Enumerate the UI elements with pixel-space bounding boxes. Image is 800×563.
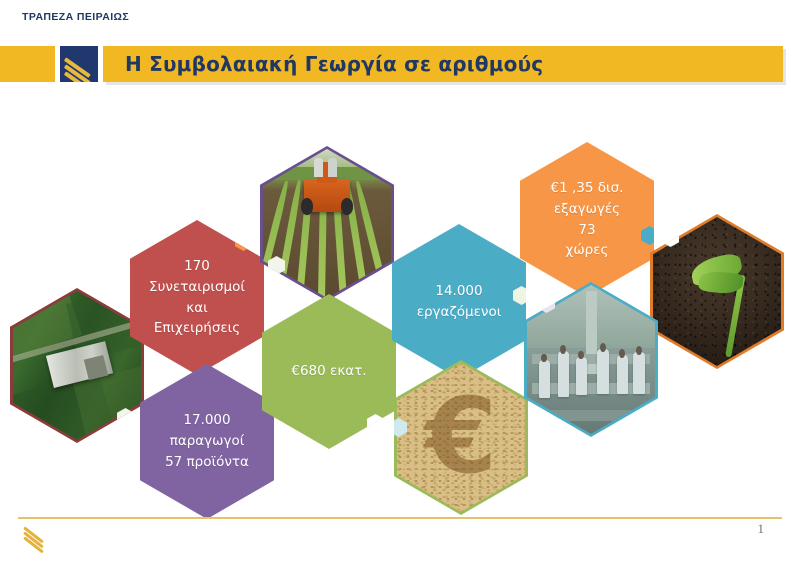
hex-grain-euro: € (394, 360, 528, 515)
stat-value: 73 (551, 220, 624, 241)
page-number: 1 (758, 521, 765, 537)
euro-symbol-overlay: € (425, 383, 497, 487)
stat-line: χώρες (551, 240, 624, 261)
stat-line: εργαζόμενοι (417, 302, 502, 323)
accent-hex-icon (513, 286, 530, 305)
title-bar: Η Συμβολαιακή Γεωργία σε αριθμούς (103, 46, 783, 82)
stat-value: 14.000 (417, 281, 502, 302)
seedling-photo (653, 217, 781, 366)
stat-line: εξαγωγές (551, 199, 624, 220)
hex-aerial-facility (10, 288, 144, 443)
accent-hex-icon (235, 232, 252, 251)
stat-line: Συνεταιρισμοί (149, 277, 245, 298)
tractor-field-photo (263, 149, 391, 298)
slide: ΤΡΑΠΕΖΑ ΠΕΙΡΑΙΩΣ Η Συμβολαιακή Γεωργία σ… (0, 0, 800, 563)
piraeus-bank-logo-icon (60, 46, 98, 82)
hex-processing-plant (524, 282, 658, 437)
aerial-facility-photo (13, 291, 141, 440)
hex-employees-label: 14.000 εργαζόμενοι (409, 281, 510, 323)
title-row: Η Συμβολαιακή Γεωργία σε αριθμούς (0, 46, 800, 84)
honeycomb-infographic: 170 Συνεταιρισμοί και Επιχειρήσεις (0, 124, 800, 499)
hex-employees: 14.000 εργαζόμενοι (392, 224, 526, 379)
grain-euro-photo: € (397, 363, 525, 512)
processing-plant-photo (527, 285, 655, 434)
stat-line: 57 προϊόντα (165, 452, 249, 473)
hex-cooperatives-label: 170 Συνεταιρισμοί και Επιχειρήσεις (141, 256, 253, 340)
hex-tractor-field (260, 146, 394, 301)
accent-hex-icon (367, 414, 384, 433)
hex-turnover-label: €680 εκατ. (283, 361, 374, 382)
accent-hex-icon (641, 226, 658, 245)
hex-exports-label: €1 ,35 δισ. εξαγωγές 73 χώρες (543, 178, 632, 262)
hex-producers: 17.000 παραγωγοί 57 προϊόντα (140, 364, 274, 519)
stat-line: Επιχειρήσεις (149, 318, 245, 339)
hex-turnover: €680 εκατ. (262, 294, 396, 449)
hex-seedling (650, 214, 784, 369)
stat-value: 17.000 (165, 410, 249, 431)
stat-line: και (149, 298, 245, 319)
hex-producers-label: 17.000 παραγωγοί 57 προϊόντα (157, 410, 257, 473)
title-left-tab (0, 46, 55, 82)
brand-name: ΤΡΑΠΕΖΑ ΠΕΙΡΑΙΩΣ (22, 11, 129, 23)
footer-rule (18, 517, 782, 519)
stat-line: παραγωγοί (165, 431, 249, 452)
stat-value: €680 εκατ. (291, 361, 366, 382)
stat-value: €1 ,35 δισ. (551, 178, 624, 199)
page-title: Η Συμβολαιακή Γεωργία σε αριθμούς (125, 52, 543, 76)
wheat-stripes-icon (22, 522, 56, 542)
stat-value: 170 (149, 256, 245, 277)
hex-cooperatives: 170 Συνεταιρισμοί και Επιχειρήσεις (130, 220, 264, 375)
hex-exports: €1 ,35 δισ. εξαγωγές 73 χώρες (520, 142, 654, 297)
